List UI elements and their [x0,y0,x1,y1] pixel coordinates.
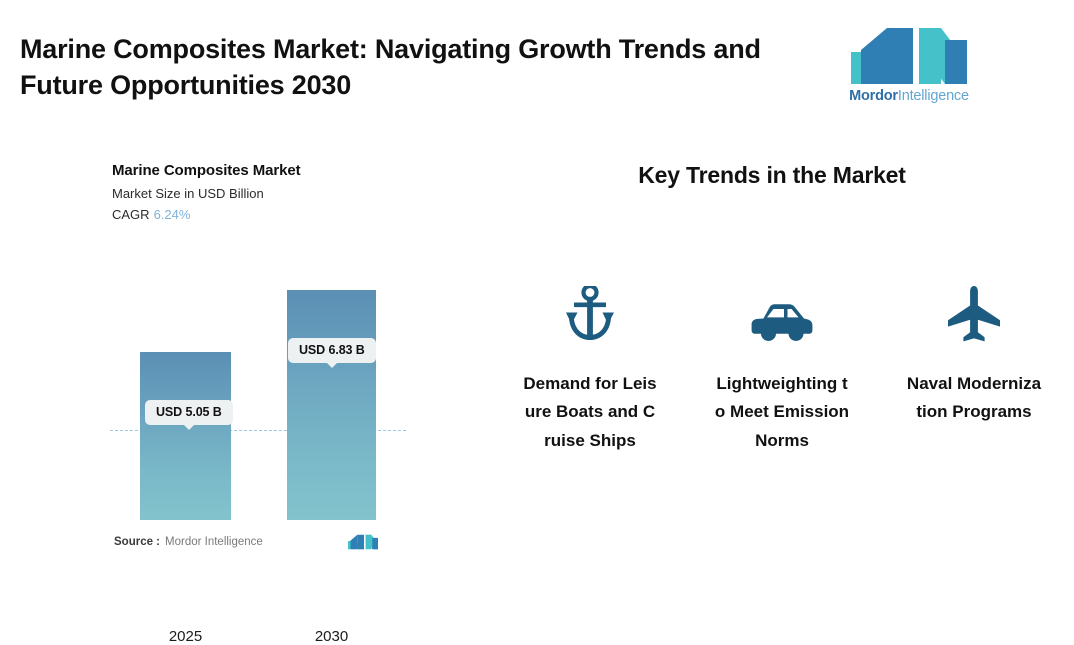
page-header: Marine Composites Market: Navigating Gro… [0,0,1074,130]
bar-value-callout-2025: USD 5.05 B [145,400,233,425]
chart-source: Source :Mordor Intelligence [114,536,263,548]
trends-heading: Key Trends in the Market [470,162,1074,189]
key-trends-panel: Key Trends in the Market Demand for Leis… [470,130,1074,589]
chart-title: Marine Composites Market [112,162,300,179]
trend-item-leisure-boats: Demand for Leisure Boats and Cruise Ship… [522,280,658,455]
page-title: Marine Composites Market: Navigating Gro… [20,32,810,104]
bar-2030 [287,290,376,520]
trend-label-naval-modernization: Naval Modernization Programs [906,370,1042,427]
chart-subtitle: Market Size in USD Billion [112,186,264,201]
brand-word-mordor: Mordor [849,88,898,104]
brand-word-intelligence: Intelligence [898,88,969,104]
chart-cagr: CAGR6.24% [112,207,190,222]
market-size-chart-panel: Marine Composites Market Market Size in … [0,130,470,589]
car-icon [751,280,813,342]
trend-label-lightweighting: Lightweighting to Meet Emission Norms [714,370,850,455]
x-axis-label-2030: 2030 [287,628,376,645]
bar-2025 [140,352,231,520]
brand-wordmark: MordorIntelligence [845,88,973,104]
trend-item-lightweighting: Lightweighting to Meet Emission Norms [714,280,850,455]
chart-source-label: Source : [114,536,160,548]
trend-item-naval-modernization: Naval Modernization Programs [906,280,1042,455]
airplane-icon [947,280,1001,342]
trends-row: Demand for Leisure Boats and Cruise Ship… [522,280,1042,455]
chart-cagr-value: 6.24% [154,207,191,222]
anchor-icon [565,280,615,342]
chart-plot-area: USD 5.05 B USD 6.83 B 2025 2030 [0,230,470,520]
trend-label-leisure-boats: Demand for Leisure Boats and Cruise Ship… [522,370,658,455]
mordor-intelligence-mark-small [348,533,378,551]
bar-value-callout-2030: USD 6.83 B [288,338,376,363]
brand-logo: MordorIntelligence [845,28,973,106]
x-axis-label-2025: 2025 [140,628,231,645]
mordor-intelligence-mark [851,28,967,84]
chart-source-value: Mordor Intelligence [165,536,263,548]
chart-cagr-label: CAGR [112,207,150,222]
